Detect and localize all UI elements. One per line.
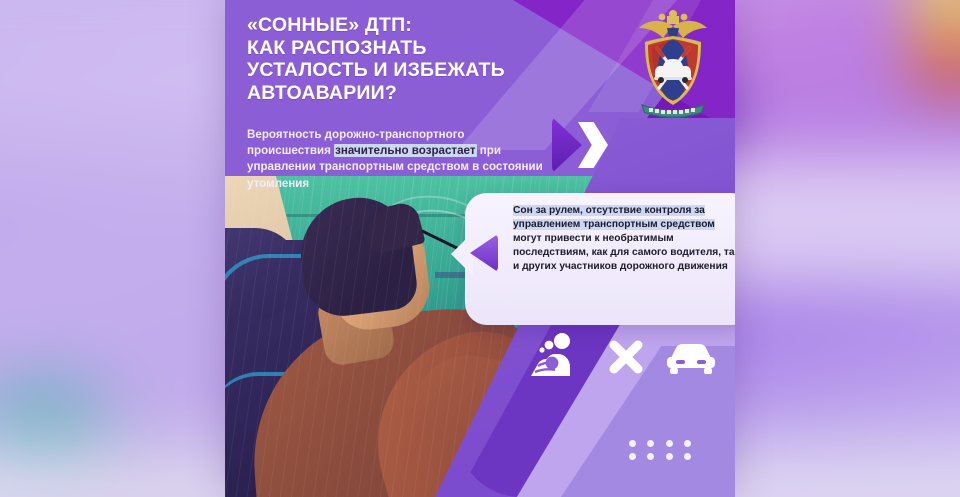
play-chevron-marker (550, 113, 628, 179)
subtitle-highlight: значительно возрастает (334, 144, 476, 157)
cross-multiply-icon (607, 338, 645, 376)
car-icon (665, 340, 717, 376)
title-line-2: КАК РАСПОЗНАТЬ (247, 37, 577, 60)
chevron-right-icon (578, 122, 608, 168)
message-bold: Сон за рулем, отсутствие контроля за упр… (513, 205, 715, 230)
dot (629, 453, 636, 460)
screenshot-stage: «СОННЫЕ» ДТП: КАК РАСПОЗНАТЬ УСТАЛОСТЬ И… (0, 0, 960, 497)
title-line-3: УСТАЛОСТЬ И ИЗБЕЖАТЬ (247, 59, 577, 82)
poster-title: «СОННЫЕ» ДТП: КАК РАСПОЗНАТЬ УСТАЛОСТЬ И… (247, 14, 577, 104)
dot-grid-decoration (623, 437, 697, 463)
icon-row (525, 332, 715, 388)
background-emblem-blur (910, 0, 960, 97)
message-rest: могут привести к необратимым последствия… (513, 233, 735, 272)
title-line-4: АВТОАВАРИИ? (247, 82, 577, 105)
play-triangle-icon (552, 117, 582, 173)
dot (666, 440, 673, 447)
gibdd-emblem (633, 8, 713, 120)
message-panel-notch (451, 232, 473, 276)
dot (684, 453, 691, 460)
sleeping-person-icon (525, 332, 577, 384)
dot (629, 440, 636, 447)
message-text: Сон за рулем, отсутствие контроля за упр… (513, 204, 735, 274)
dot (666, 453, 673, 460)
dot (647, 453, 654, 460)
title-line-1: «СОННЫЕ» ДТП: (247, 14, 577, 37)
poster-subtitle: Вероятность дорожно-транспортного происш… (247, 127, 547, 192)
dot (647, 440, 654, 447)
poster-card: «СОННЫЕ» ДТП: КАК РАСПОЗНАТЬ УСТАЛОСТЬ И… (225, 0, 735, 497)
dot (684, 440, 691, 447)
